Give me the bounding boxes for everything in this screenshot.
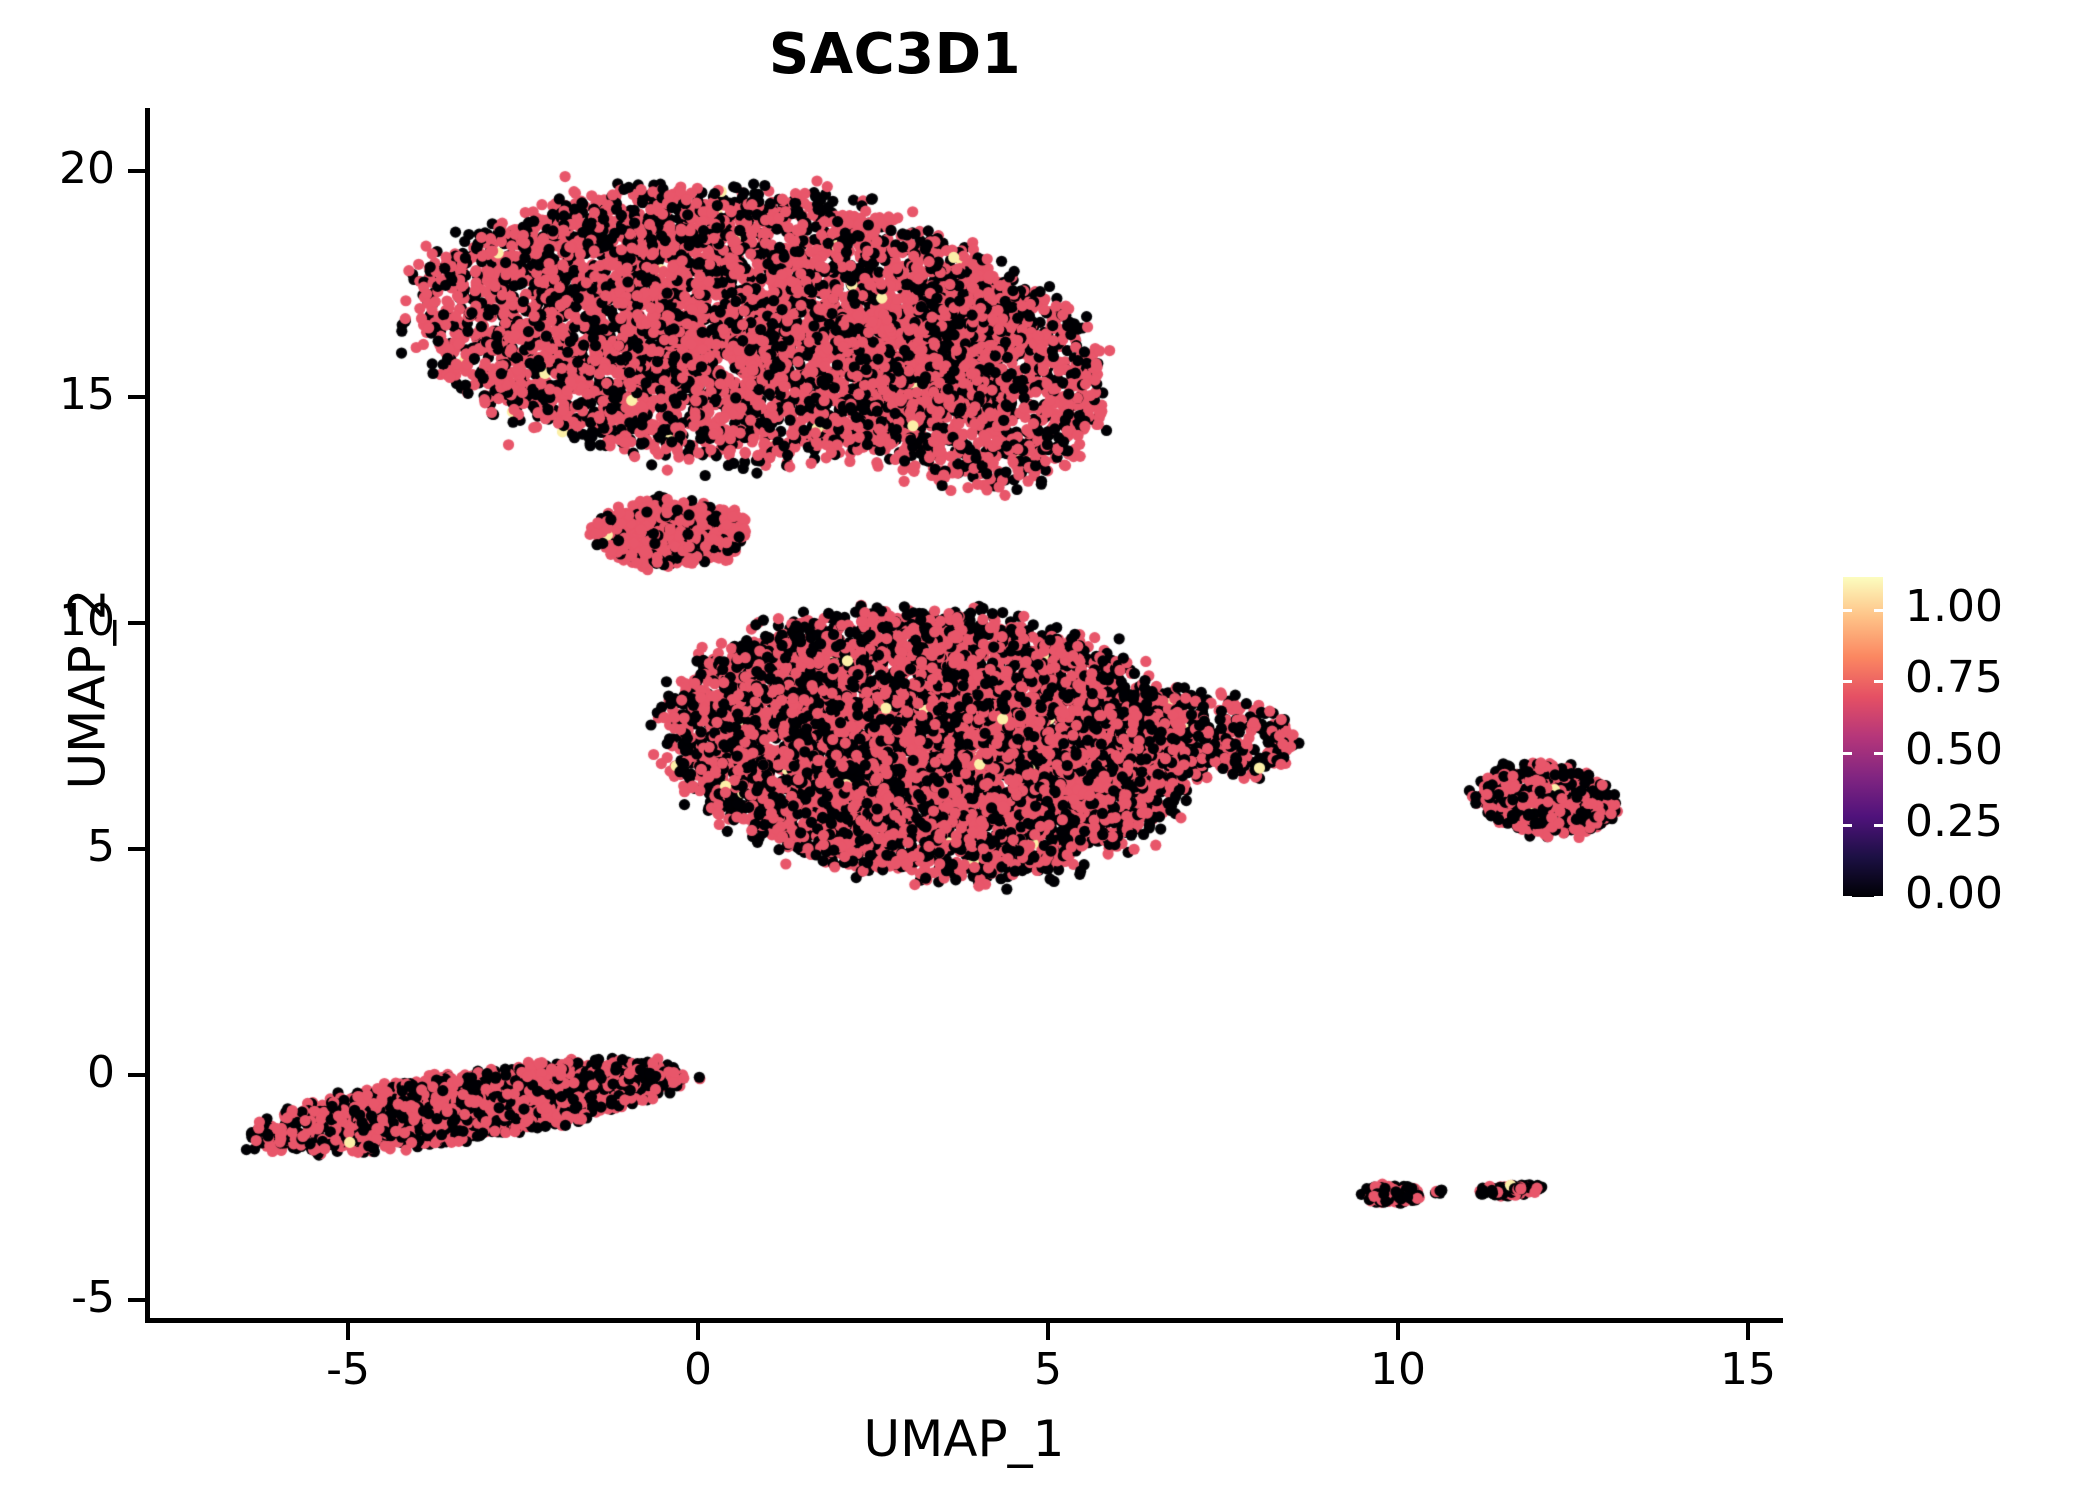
x-tick-label: 10	[1328, 1348, 1468, 1392]
x-axis-spine	[145, 1318, 1783, 1323]
colorbar-tick-mark	[1874, 609, 1883, 612]
colorbar-tick-label: 0.50	[1905, 728, 2003, 772]
colorbar-tick-mark	[1843, 680, 1852, 683]
x-axis-title: UMAP_1	[145, 1410, 1783, 1468]
axes-frame: -505101520 -5051015	[145, 108, 1783, 1323]
y-tick-mark	[128, 395, 145, 399]
y-tick-mark	[128, 621, 145, 625]
y-axis-spine	[145, 108, 150, 1323]
y-axis-title: UMAP_2	[59, 82, 117, 1297]
colorbar-tick-mark	[1843, 896, 1852, 899]
colorbar-tick-label: 0.25	[1905, 800, 2003, 844]
x-tick-mark	[346, 1323, 350, 1340]
colorbar-tick-label: 1.00	[1905, 585, 2003, 629]
x-tick-mark	[696, 1323, 700, 1340]
y-tick-mark	[128, 1073, 145, 1077]
x-tick-mark	[1396, 1323, 1400, 1340]
x-tick-mark	[1746, 1323, 1750, 1340]
colorbar-tick-mark	[1874, 680, 1883, 683]
x-tick-mark	[1046, 1323, 1050, 1340]
colorbar-tick-mark	[1843, 824, 1852, 827]
colorbar-tick-mark	[1874, 752, 1883, 755]
colorbar-tick-mark	[1874, 896, 1883, 899]
x-tick-label: 5	[978, 1348, 1118, 1392]
colorbar-tick-mark	[1843, 752, 1852, 755]
page-title: SAC3D1	[0, 22, 1790, 87]
x-tick-label: -5	[278, 1348, 418, 1392]
y-tick-mark	[128, 1298, 145, 1302]
colorbar-tick-mark	[1874, 824, 1883, 827]
colorbar-tick-mark	[1843, 609, 1852, 612]
colorbar-tick-label: 0.75	[1905, 656, 2003, 700]
x-tick-label: 0	[628, 1348, 768, 1392]
colorbar-gradient	[1843, 577, 1883, 897]
y-tick-mark	[128, 847, 145, 851]
y-tick-mark	[128, 169, 145, 173]
x-tick-label: 15	[1678, 1348, 1818, 1392]
colorbar-tick-label: 0.00	[1905, 872, 2003, 916]
figure-root: SAC3D1 -505101520 -5051015 UMAP_1 UMAP_2…	[0, 0, 2100, 1500]
